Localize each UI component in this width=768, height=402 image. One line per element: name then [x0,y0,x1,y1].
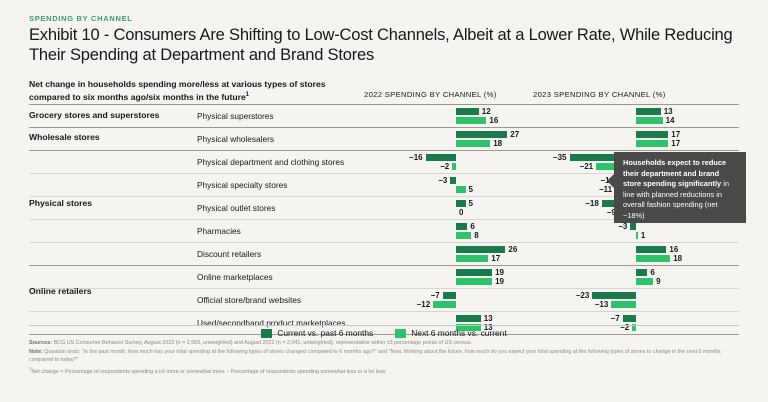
bar-current [623,315,636,322]
column-header-2022: 2022 SPENDING BY CHANNEL (%) [364,90,497,99]
footnote-sources-label: Sources: [29,340,52,346]
bar-current [456,223,467,230]
bar-value-label: −3 [438,177,447,184]
bar-current [450,177,456,184]
eyebrow-label: SPENDING BY CHANNEL [29,14,133,23]
panel-2023: 1618 [552,243,732,265]
bar-next [456,255,488,262]
table-row: Physical wholesalers27181717 [29,128,739,151]
bar-value-label: 17 [491,255,500,262]
bar-value-label: −16 [409,154,423,161]
bar-current [456,200,466,207]
bar-current [456,315,481,322]
footnote-sources-text: BCG US Consumer Behavior Survey, August … [52,340,472,346]
footnote-note-label: Note: [29,349,43,355]
panel-2023: −23−13 [552,289,732,311]
row-label: Physical superstores [197,105,372,127]
table-row: Online marketplaces191969 [29,266,739,289]
chart-subtitle: Net change in households spending more/l… [29,79,359,103]
panel-2022: −7−12 [372,289,552,311]
group-label-grocery: Grocery stores and superstores [29,110,159,120]
bar-next [456,232,471,239]
bar-value-label: 6 [470,223,474,230]
bar-current [592,292,636,299]
panel-2022: 1216 [372,105,552,127]
bar-value-label: 13 [484,315,493,322]
bar-value-label: −7 [431,292,440,299]
bar-value-label: 8 [474,232,478,239]
bar-value-label: −2 [440,163,449,170]
bar-value-label: 18 [493,140,502,147]
row-plot: 26171618 [372,243,739,265]
bar-current [443,292,456,299]
callout-tail-icon [607,174,614,188]
row-label: Online marketplaces [197,266,372,288]
subtitle-footnote-marker: 1 [246,92,249,98]
panel-2022: 68 [372,220,552,242]
bar-value-label: −7 [611,315,620,322]
bar-next [456,140,490,147]
bar-next [636,232,638,239]
column-header-2023: 2023 SPENDING BY CHANNEL (%) [533,90,666,99]
row-plot: 27181717 [372,128,739,150]
bar-current [456,131,507,138]
panel-2023: 69 [552,266,732,288]
row-plot: 12161314 [372,105,739,127]
bar-value-label: 6 [650,269,654,276]
bar-value-label: 18 [673,255,682,262]
row-label: Physical wholesalers [197,128,372,150]
panel-2022: −35 [372,174,552,196]
row-label: Discount retailers [197,243,372,265]
group-label-online-retailers: Online retailers [29,286,92,296]
bar-value-label: −12 [417,301,431,308]
bar-value-label: −21 [580,163,594,170]
bar-value-label: 16 [669,246,678,253]
bar-next [456,117,486,124]
bar-current [426,154,456,161]
footnote-sources: Sources: BCG US Consumer Behavior Survey… [29,340,741,348]
bar-next [452,163,456,170]
bar-value-label: 9 [656,278,660,285]
panel-2022: 1919 [372,266,552,288]
footnote-note-text: Question texts: “In the past month, how … [29,349,721,363]
table-row: Pharmacies68−31 [29,220,739,243]
bar-current [456,108,479,115]
footnote-one-text: Net change = Percentage of respondents s… [31,369,386,375]
bar-current [456,269,492,276]
bar-next [636,140,668,147]
bar-value-label: 12 [482,108,491,115]
bar-next [636,117,663,124]
panel-2022: 2617 [372,243,552,265]
bar-value-label: 26 [508,246,517,253]
bar-current [636,131,668,138]
bar-value-label: −13 [595,301,609,308]
group-cell [29,243,197,265]
legend-swatch-icon [261,329,272,338]
footnote-note: Note: Question texts: “In the past month… [29,349,741,364]
bar-value-label: 0 [459,209,463,216]
group-cell [29,151,197,173]
bar-next [636,278,653,285]
table-row: Discount retailers26171618 [29,243,739,266]
bar-value-label: −35 [553,154,567,161]
bar-value-label: 14 [666,117,675,124]
bar-next [636,255,670,262]
group-cell [29,266,197,288]
bar-value-label: −18 [585,200,599,207]
row-plot: 191969 [372,266,739,288]
bar-next [456,186,466,193]
panel-2023: −31 [552,220,732,242]
bar-value-label: −3 [618,223,627,230]
footnotes: Sources: BCG US Consumer Behavior Survey… [29,340,741,378]
legend-label: Next 6 months vs. current [411,328,506,338]
bar-value-label: 19 [495,278,504,285]
legend-label: Current vs. past 6 months [277,328,373,338]
bar-current [636,108,661,115]
bar-value-label: 19 [495,269,504,276]
legend-divider [29,325,739,326]
bar-value-label: 1 [641,232,645,239]
chart-legend: Current vs. past 6 monthsNext 6 months v… [0,328,768,338]
row-label: Physical specialty stores [197,174,372,196]
row-label: Physical department and clothing stores [197,151,372,173]
row-label: Physical outlet stores [197,197,372,219]
row-plot: −7−12−23−13 [372,289,739,311]
panel-2023: 1314 [552,105,732,127]
table-row: Official store/brand websites−7−12−23−13 [29,289,739,312]
bar-value-label: −23 [576,292,590,299]
legend-swatch-icon [395,329,406,338]
bar-next [611,301,636,308]
panel-2022: −16−2 [372,151,552,173]
group-label-wholesale: Wholesale stores [29,132,100,142]
group-label-physical-stores: Physical stores [29,198,92,208]
legend-item: Current vs. past 6 months [261,328,373,338]
callout-bold-text: Households expect to reduce their depart… [623,158,726,188]
row-label: Pharmacies [197,220,372,242]
bar-current [456,246,505,253]
legend-item: Next 6 months vs. current [395,328,506,338]
bar-value-label: 17 [671,140,680,147]
callout-box: Households expect to reduce their depart… [614,152,746,223]
panel-2023: 1717 [552,128,732,150]
exhibit-page: SPENDING BY CHANNEL Exhibit 10 - Consume… [0,0,768,402]
chart-subtitle-text: Net change in households spending more/l… [29,79,326,101]
bar-current [636,269,647,276]
bar-value-label: 16 [489,117,498,124]
panel-2022: 2718 [372,128,552,150]
bar-value-label: 27 [510,131,519,138]
bar-value-label: 13 [664,108,673,115]
bar-next [456,278,492,285]
bar-current [630,223,636,230]
row-plot: 68−31 [372,220,739,242]
group-cell [29,174,197,196]
bar-next [433,301,456,308]
bar-value-label: 17 [671,131,680,138]
panel-2022: 50 [372,197,552,219]
bar-current [636,246,666,253]
page-title: Exhibit 10 - Consumers Are Shifting to L… [29,25,744,65]
row-label: Official store/brand websites [197,289,372,311]
bar-value-label: 5 [469,186,473,193]
bar-value-label: 5 [469,200,473,207]
group-cell [29,220,197,242]
footnote-one: 1Net change = Percentage of respondents … [29,366,741,376]
